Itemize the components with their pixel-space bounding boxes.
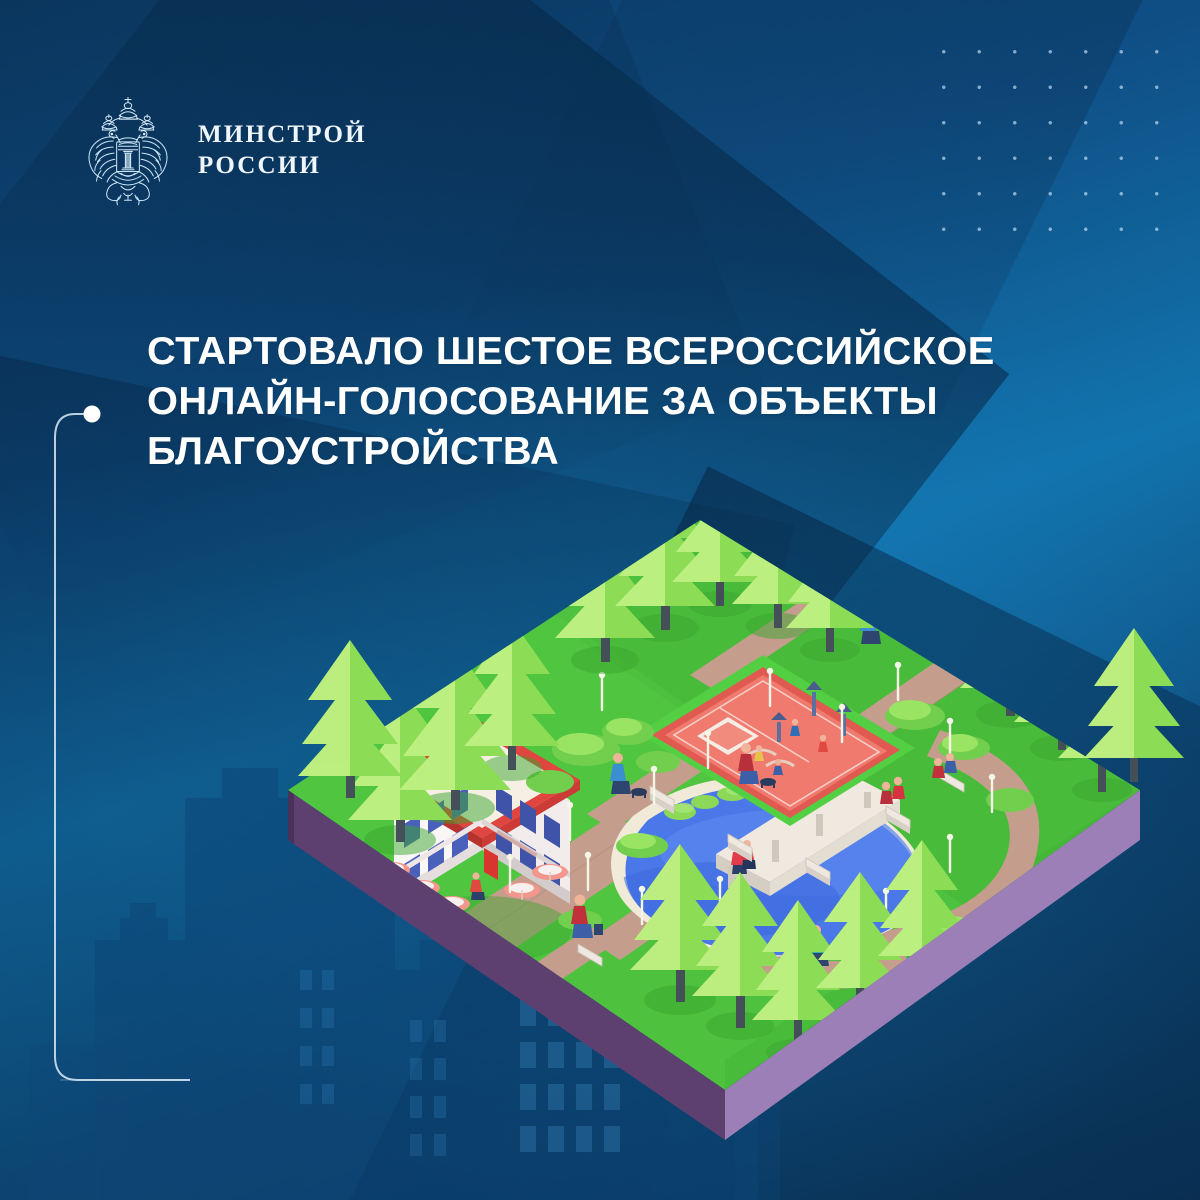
poster-canvas: МИНСТРОЙ РОССИИ СТАРТОВАЛО ШЕСТОЕ ВСЕРОС… bbox=[0, 0, 1200, 1200]
headline-line-1: СТАРТОВАЛО ШЕСТОЕ ВСЕРОССИЙСКОЕ bbox=[147, 327, 1126, 377]
headline-line-2: ОНЛАЙН-ГОЛОСОВАНИЕ ЗА ОБЪЕКТЫ bbox=[147, 377, 1126, 427]
ministry-logo-text: МИНСТРОЙ РОССИИ bbox=[198, 120, 367, 182]
page-title: СТАРТОВАЛО ШЕСТОЕ ВСЕРОССИЙСКОЕ ОНЛАЙН-Г… bbox=[147, 327, 1126, 477]
rounded-bracket-line-icon bbox=[0, 380, 190, 1120]
isometric-park-diorama bbox=[250, 500, 1200, 1160]
ministry-logo: МИНСТРОЙ РОССИИ bbox=[80, 92, 367, 210]
headline-line-3: БЛАГОУСТРОЙСТВА bbox=[147, 427, 1126, 477]
dot-grid-pattern-icon bbox=[922, 30, 1182, 242]
logo-line-2: РОССИИ bbox=[198, 151, 367, 182]
bullet-dot-icon bbox=[84, 406, 101, 423]
logo-line-1: МИНСТРОЙ bbox=[198, 120, 367, 151]
russian-coat-of-arms-eagle-icon bbox=[80, 92, 176, 210]
